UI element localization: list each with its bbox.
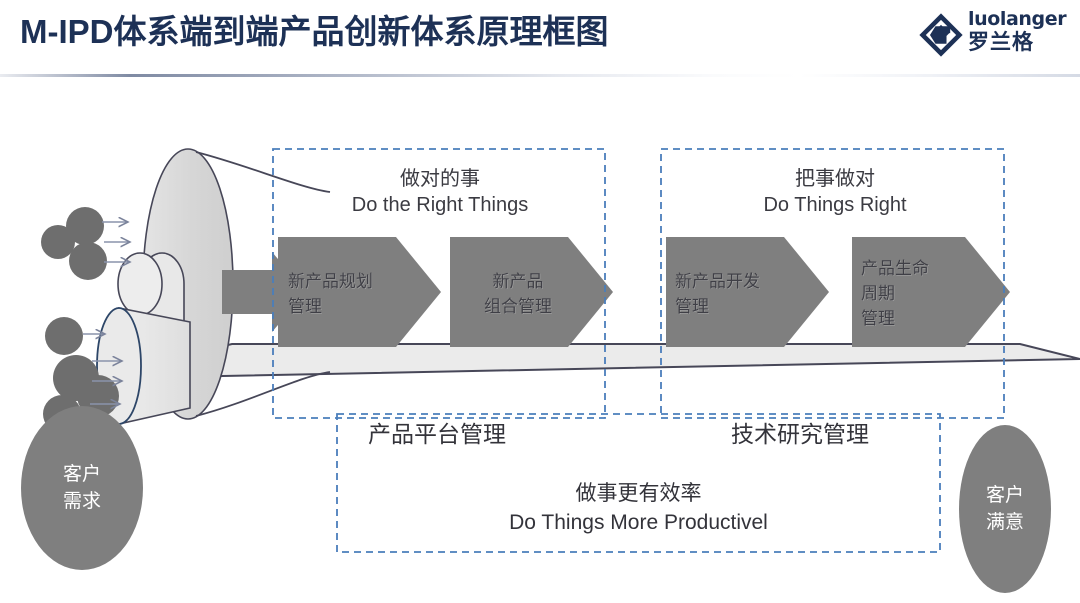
logo-text: luolanger 罗兰格 — [968, 8, 1068, 55]
stage-label-product-lifecycle: 产品生命 周期 管理 — [861, 256, 966, 331]
band-label-technology-research-management: 技术研究管理 — [731, 419, 869, 449]
slide-root: M-IPD体系端到端产品创新体系原理框图 luolanger 罗兰格 — [0, 0, 1080, 603]
input-oval-label: 客户 需求 — [22, 461, 142, 515]
diamond-g-icon — [918, 12, 964, 58]
page-title: M-IPD体系端到端产品创新体系原理框图 — [20, 6, 609, 58]
logo-latin-text: luolanger — [968, 8, 1068, 30]
footer-title-en: Do Things More Productivel — [337, 508, 940, 537]
stage-label-new-product-development: 新产品开发 管理 — [675, 269, 800, 319]
band-label-product-platform-management: 产品平台管理 — [368, 419, 506, 449]
logo-chinese-text: 罗兰格 — [968, 30, 1068, 55]
input-dots-upper — [41, 207, 107, 280]
stage-label-new-product-portfolio: 新产品 组合管理 — [462, 269, 574, 319]
slide-header: M-IPD体系端到端产品创新体系原理框图 luolanger 罗兰格 — [0, 0, 1080, 76]
output-oval-label: 客户 满意 — [955, 482, 1055, 536]
diagram-canvas: 做对的事 Do the Right Things 把事做对 Do Things … — [0, 76, 1080, 603]
stage-label-new-product-planning: 新产品规划 管理 — [288, 269, 413, 319]
flow-band — [113, 344, 1080, 378]
footer-title-cn: 做事更有效率 — [337, 480, 940, 508]
brand-logo: luolanger 罗兰格 — [918, 6, 1068, 64]
